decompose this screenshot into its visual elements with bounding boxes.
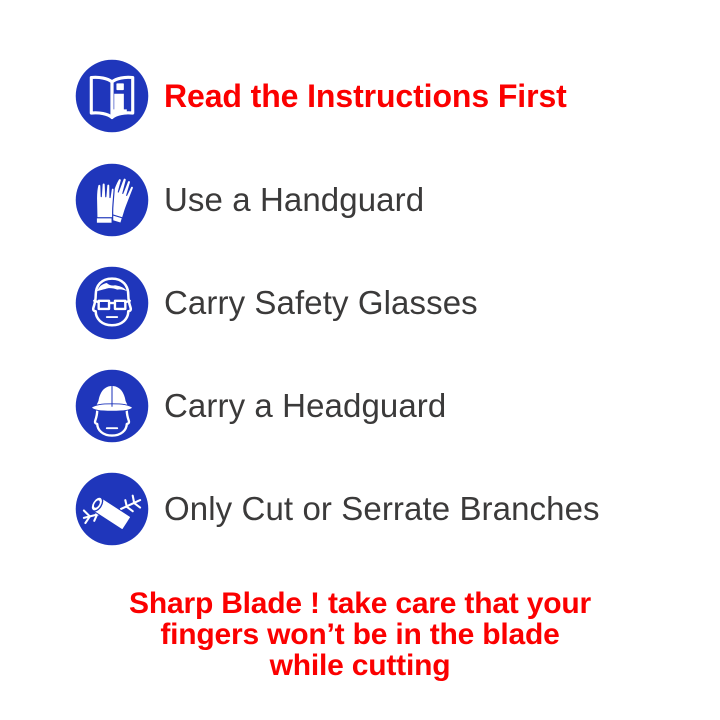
read-instructions-icon: [75, 59, 149, 133]
rule-row: Use a Handguard: [0, 163, 720, 239]
sharp-blade-warning: Sharp Blade ! take care that your finger…: [0, 588, 720, 681]
rule-row: Carry Safety Glasses: [0, 266, 720, 342]
warning-line-1: Sharp Blade ! take care that your: [0, 588, 720, 619]
rule-row: Carry a Headguard: [0, 369, 720, 445]
warning-line-3: while cutting: [0, 650, 720, 681]
warning-line-2: fingers won’t be in the blade: [0, 619, 720, 650]
rule-label: Read the Instructions First: [164, 59, 567, 133]
hard-hat-icon: [75, 369, 149, 443]
rule-label: Carry Safety Glasses: [164, 266, 478, 340]
safety-label-page: Read the Instructions First Use a Handgu…: [0, 0, 720, 720]
rule-row: Only Cut or Serrate Branches: [0, 472, 720, 548]
safety-glasses-icon: [75, 266, 149, 340]
rule-label: Carry a Headguard: [164, 369, 446, 443]
rule-label: Only Cut or Serrate Branches: [164, 472, 600, 546]
rule-label: Use a Handguard: [164, 163, 424, 237]
protective-gloves-icon: [75, 163, 149, 237]
rule-row: Read the Instructions First: [0, 59, 720, 135]
cut-branches-icon: [75, 472, 149, 546]
